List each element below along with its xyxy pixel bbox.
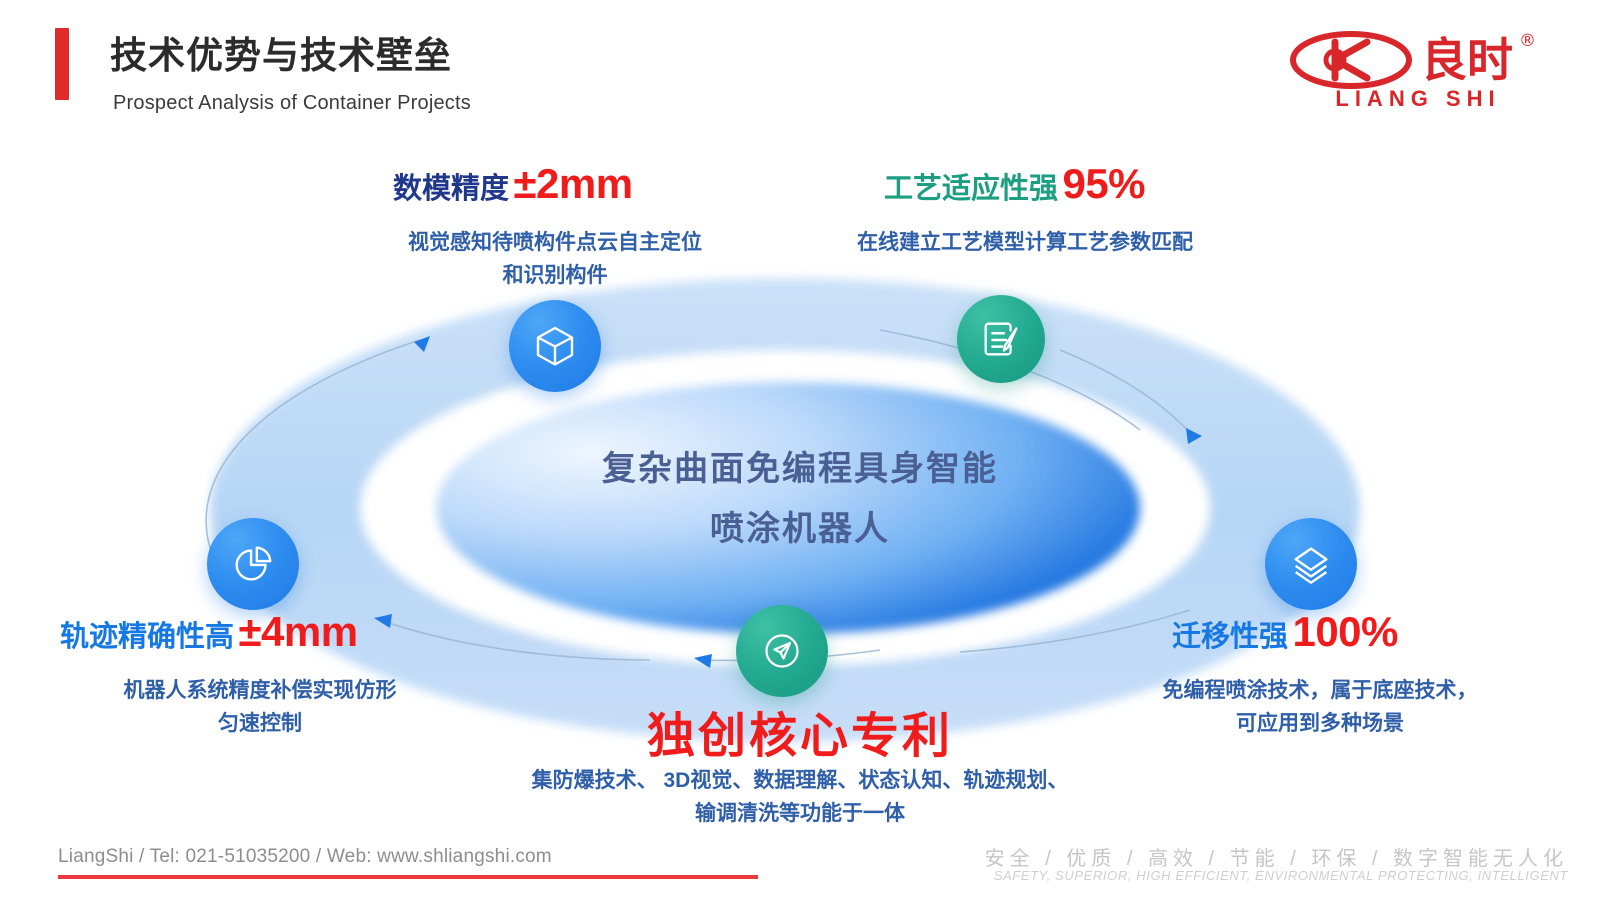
- desc-line-2: 和识别构件: [380, 260, 730, 293]
- document-edit-icon-circle[interactable]: [957, 295, 1045, 383]
- cube-icon: [531, 322, 579, 370]
- node-name-trajectory-accuracy: 轨迹精确性高: [60, 621, 234, 653]
- desc-core-patent: 集防爆技术、 3D视觉、数据理解、状态认知、轨迹规划、 输调清洗等功能于一体: [400, 765, 1200, 830]
- node-model-accuracy[interactable]: [509, 300, 601, 392]
- desc-line-1: 视觉感知待喷构件点云自主定位: [380, 227, 730, 260]
- desc-line-2: 匀速控制: [60, 708, 460, 741]
- node-value-trajectory-accuracy: ±4mm: [238, 608, 357, 655]
- cube-icon-circle[interactable]: [509, 300, 601, 392]
- pie-chart-icon: [230, 541, 276, 587]
- node-name-core-patent: 独创核心专利: [500, 696, 1100, 766]
- node-name-model-accuracy: 数模精度: [393, 173, 509, 205]
- label-process-adaptability: 工艺适应性强 95%: [884, 160, 1145, 208]
- document-edit-icon: [978, 316, 1024, 362]
- layers-icon-circle[interactable]: [1265, 518, 1357, 610]
- desc-transferability: 免编程喷涂技术，属于底座技术， 可应用到多种场景: [1120, 675, 1520, 740]
- desc-line-1: 在线建立工艺模型计算工艺参数匹配: [835, 227, 1215, 260]
- center-line-2: 喷涂机器人: [500, 500, 1100, 560]
- node-trajectory-accuracy[interactable]: [207, 518, 299, 610]
- desc-line-1: 免编程喷涂技术，属于底座技术，: [1120, 675, 1520, 708]
- desc-line-1: 集防爆技术、 3D视觉、数据理解、状态认知、轨迹规划、: [400, 765, 1200, 798]
- svg-text:良时: 良时: [1421, 33, 1513, 87]
- footer-contact: LiangShi / Tel: 021-51035200 / Web: www.…: [58, 846, 552, 868]
- send-icon: [758, 627, 806, 675]
- footer-slogan-cn: 安全 / 优质 / 高效 / 节能 / 环保 / 数字智能无人化: [985, 842, 1568, 871]
- company-logo: 良时 ® LIANG SHI: [1289, 28, 1564, 110]
- node-value-transferability: 100%: [1292, 608, 1397, 655]
- page-title: 技术优势与技术壁垒: [110, 36, 452, 77]
- desc-line-1: 机器人系统精度补偿实现仿形: [60, 675, 460, 708]
- page-footer: LiangShi / Tel: 021-51035200 / Web: www.…: [0, 840, 1600, 900]
- pie-chart-icon-circle[interactable]: [207, 518, 299, 610]
- node-value-process-adaptability: 95%: [1062, 160, 1145, 207]
- node-name-transferability: 迁移性强: [1172, 621, 1288, 653]
- desc-line-2: 输调清洗等功能于一体: [400, 798, 1200, 831]
- title-accent-bar: [55, 28, 69, 100]
- footer-rule: [58, 875, 758, 879]
- node-transferability[interactable]: [1265, 518, 1357, 610]
- desc-model-accuracy: 视觉感知待喷构件点云自主定位 和识别构件: [380, 227, 730, 292]
- label-trajectory-accuracy: 轨迹精确性高 ±4mm: [60, 608, 358, 656]
- node-process-adaptability[interactable]: [957, 295, 1045, 383]
- logo-brand-en: LIANG SHI: [1293, 86, 1543, 112]
- desc-line-2: 可应用到多种场景: [1120, 708, 1520, 741]
- node-core-patent[interactable]: [736, 605, 828, 697]
- label-transferability: 迁移性强 100%: [1172, 608, 1398, 656]
- center-line-1: 复杂曲面免编程具身智能: [500, 440, 1100, 500]
- page-header: 技术优势与技术壁垒 Prospect Analysis of Container…: [0, 0, 1600, 140]
- node-value-model-accuracy: ±2mm: [513, 160, 632, 207]
- diagram-area: 复杂曲面免编程具身智能 喷涂机器人 数模精度 ±2mm 视觉感知待喷构件点云自主…: [0, 140, 1600, 840]
- send-icon-circle[interactable]: [736, 605, 828, 697]
- diagram-center-label: 复杂曲面免编程具身智能 喷涂机器人: [500, 440, 1100, 559]
- footer-slogan-en: SAFETY, SUPERIOR, HIGH EFFICIENT, ENVIRO…: [994, 868, 1568, 883]
- desc-trajectory-accuracy: 机器人系统精度补偿实现仿形 匀速控制: [60, 675, 460, 740]
- node-name-process-adaptability: 工艺适应性强: [884, 173, 1058, 205]
- layers-icon: [1288, 541, 1334, 587]
- desc-process-adaptability: 在线建立工艺模型计算工艺参数匹配: [835, 227, 1215, 260]
- svg-text:®: ®: [1519, 31, 1536, 51]
- page-subtitle: Prospect Analysis of Container Projects: [113, 92, 471, 115]
- label-model-accuracy: 数模精度 ±2mm: [393, 160, 633, 208]
